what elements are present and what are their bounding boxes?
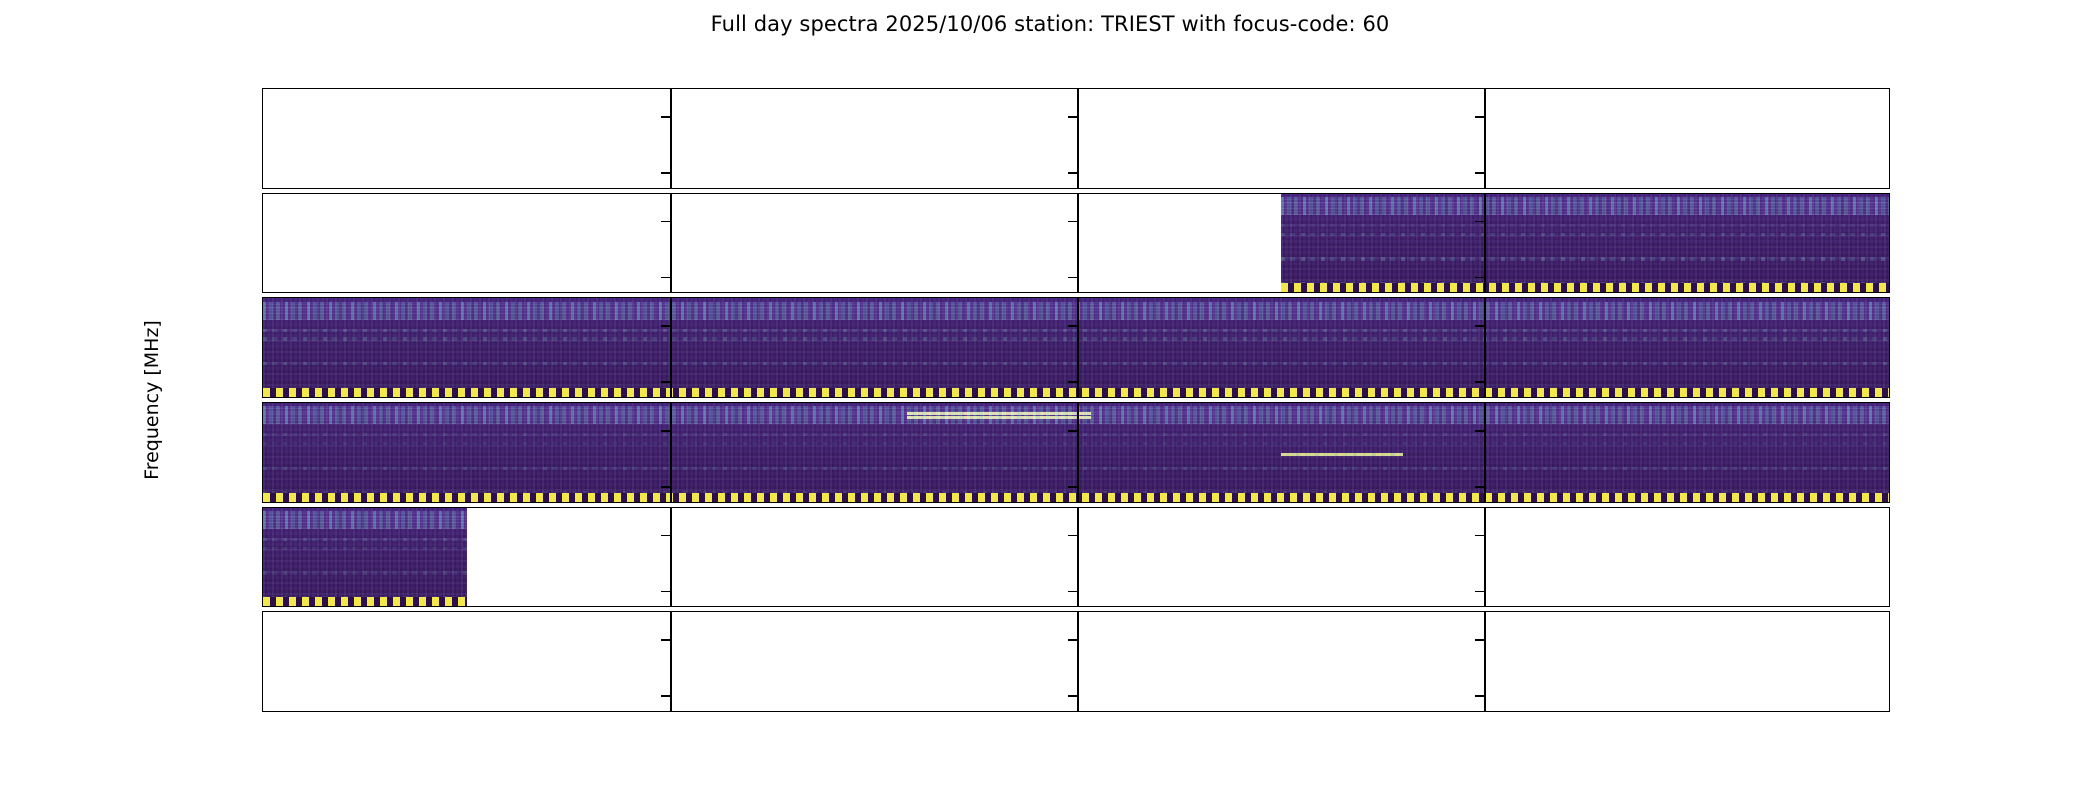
y-axis-tick-inner [661, 695, 670, 697]
hour-divider [1484, 194, 1486, 293]
y-axis-tick-inner [1068, 430, 1077, 432]
y-axis-tick-inner [661, 221, 670, 223]
hour-divider [1484, 298, 1486, 397]
y-axis-tick [262, 172, 263, 174]
y-axis-tick-inner [1475, 486, 1484, 488]
spectrogram-row-00-03ut: 1000150000-03UT [262, 88, 1890, 189]
x-axis-tick [771, 711, 773, 712]
hour-divider [1484, 89, 1486, 188]
y-axis-tick-inner [1475, 381, 1484, 383]
coverage-marker-strip [1281, 283, 1891, 292]
y-axis-tick-inner [1068, 172, 1077, 174]
spectrogram-row-16-19ut: 1000150016-19UT [262, 507, 1890, 608]
y-axis-tick-inner [661, 535, 670, 537]
hour-divider [1077, 508, 1079, 607]
y-axis-tick-inner [1068, 381, 1077, 383]
y-axis-label: Frequency [MHz] [141, 320, 163, 480]
x-axis-tick [1280, 711, 1282, 712]
y-axis-tick [262, 430, 263, 432]
x-axis-tick [1381, 711, 1383, 712]
x-axis-tick [1585, 711, 1587, 712]
hour-divider [670, 298, 672, 397]
hour-divider [1484, 612, 1486, 711]
y-axis-tick-inner [661, 325, 670, 327]
spectrogram-data [263, 508, 467, 607]
y-axis-tick-inner [1475, 277, 1484, 279]
y-axis-tick-inner [1068, 116, 1077, 118]
y-axis-tick-inner [661, 381, 670, 383]
hour-divider [1077, 612, 1079, 711]
hour-divider [670, 403, 672, 502]
y-axis-tick [262, 221, 263, 223]
x-axis-tick [1178, 711, 1180, 712]
x-axis-tick [669, 711, 671, 712]
hour-divider [1484, 508, 1486, 607]
hour-divider [670, 612, 672, 711]
x-axis-tick [974, 711, 976, 712]
y-axis-tick [262, 591, 263, 593]
y-axis-tick-inner [1068, 695, 1077, 697]
plot-area: 1000150000-03UT1000150004-07UT1000150008… [262, 88, 1890, 712]
x-axis-tick [466, 711, 468, 712]
y-axis-tick-inner [1475, 430, 1484, 432]
x-axis-tick [364, 711, 366, 712]
y-axis-tick-inner [661, 639, 670, 641]
spectrogram-figure: Full day spectra 2025/10/06 station: TRI… [0, 0, 2100, 800]
y-axis-tick-inner [1068, 277, 1077, 279]
x-axis-tick [1076, 711, 1078, 712]
y-axis-tick-inner [1475, 591, 1484, 593]
y-axis-tick-inner [1475, 172, 1484, 174]
y-axis-tick-inner [1475, 695, 1484, 697]
y-axis-tick-inner [1475, 535, 1484, 537]
spectrogram-row-12-15ut: 1000150012-15UT [262, 402, 1890, 503]
y-axis-tick [262, 695, 263, 697]
spectrogram-data [1281, 194, 1891, 293]
y-axis-tick [262, 277, 263, 279]
y-axis-tick [262, 535, 263, 537]
y-axis-tick [262, 381, 263, 383]
y-axis-tick-inner [1068, 591, 1077, 593]
y-axis-tick-inner [1068, 639, 1077, 641]
y-axis-tick-inner [1475, 221, 1484, 223]
hour-divider [670, 194, 672, 293]
y-axis-tick-inner [1068, 325, 1077, 327]
y-axis-tick-inner [661, 277, 670, 279]
y-axis-tick-inner [1068, 221, 1077, 223]
hour-divider [1077, 403, 1079, 502]
y-axis-tick-inner [1068, 486, 1077, 488]
figure-title: Full day spectra 2025/10/06 station: TRI… [0, 12, 2100, 36]
y-axis-tick [262, 116, 263, 118]
hour-divider [670, 89, 672, 188]
y-axis-tick [262, 486, 263, 488]
y-axis-tick [262, 325, 263, 327]
spectrogram-row-04-07ut: 1000150004-07UT [262, 193, 1890, 294]
y-axis-tick-inner [661, 591, 670, 593]
spectrogram-row-08-11ut: 1000150008-11UT [262, 297, 1890, 398]
hour-divider [1484, 403, 1486, 502]
hour-divider [670, 508, 672, 607]
x-axis-tick [1788, 711, 1790, 712]
spectrogram-row-20-23ut: 1000150020-23UT0015304500153045001530450… [262, 611, 1890, 712]
hour-divider [1077, 194, 1079, 293]
x-axis-tick [1483, 711, 1485, 712]
y-axis-tick-inner [661, 172, 670, 174]
y-axis-tick-inner [661, 116, 670, 118]
x-axis-tick [873, 711, 875, 712]
x-axis-tick [567, 711, 569, 712]
hour-divider [1077, 298, 1079, 397]
y-axis-tick-inner [661, 486, 670, 488]
y-axis-tick-inner [1475, 639, 1484, 641]
y-axis-tick-inner [1475, 116, 1484, 118]
y-axis-tick-inner [661, 430, 670, 432]
y-axis-tick-inner [1475, 325, 1484, 327]
y-axis-tick [262, 639, 263, 641]
x-axis-tick [262, 711, 264, 712]
x-axis-tick [1687, 711, 1689, 712]
hour-divider [1077, 89, 1079, 188]
coverage-marker-strip [263, 597, 467, 606]
y-axis-tick-inner [1068, 535, 1077, 537]
